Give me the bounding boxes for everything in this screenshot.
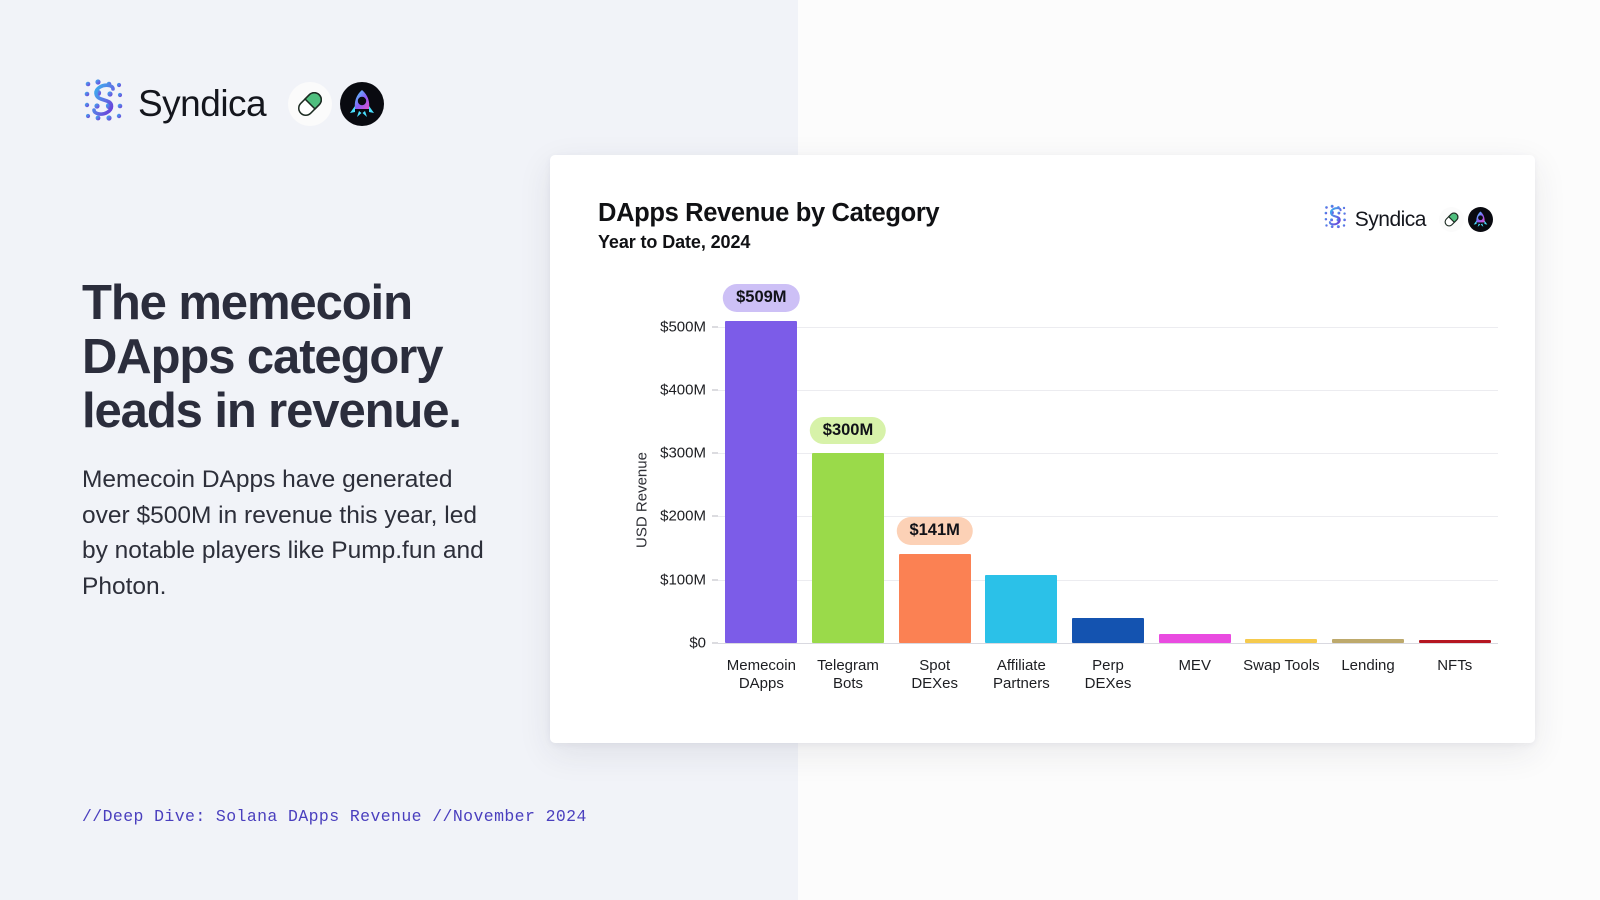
bar-column xyxy=(1325,295,1412,643)
bar[interactable]: $141M xyxy=(899,554,971,643)
y-axis-label: USD Revenue xyxy=(633,452,650,548)
chart-heading-group: DApps Revenue by Category Year to Date, … xyxy=(598,198,939,253)
bar-column xyxy=(1411,295,1498,643)
x-axis-category-label: Lending xyxy=(1325,647,1412,705)
bar-column xyxy=(1151,295,1238,643)
x-axis-labels: Memecoin DAppsTelegram BotsSpot DEXesAff… xyxy=(718,647,1498,705)
x-axis-category-label: Affiliate Partners xyxy=(978,647,1065,705)
bar-series: $509M$300M$141M xyxy=(718,295,1498,643)
pump-fun-pill-icon xyxy=(1439,207,1464,232)
x-axis-category-label: MEV xyxy=(1151,647,1238,705)
chart-card: DApps Revenue by Category Year to Date, … xyxy=(550,155,1535,743)
poster-canvas: Syndica xyxy=(0,0,1600,900)
y-axis-tick-label: $400M xyxy=(660,381,706,398)
x-axis-category-label: Spot DEXes xyxy=(891,647,978,705)
photon-rocket-icon xyxy=(340,82,384,126)
chart-subtitle: Year to Date, 2024 xyxy=(598,232,939,253)
x-axis-category-label: NFTs xyxy=(1411,647,1498,705)
pump-fun-pill-icon xyxy=(288,82,332,126)
x-axis-category-label: Swap Tools xyxy=(1238,647,1325,705)
y-axis-tick-label: $100M xyxy=(660,571,706,588)
y-axis-tick-label: $200M xyxy=(660,508,706,525)
bar[interactable] xyxy=(1332,639,1404,643)
x-axis-category-label: Perp DEXes xyxy=(1065,647,1152,705)
bar[interactable] xyxy=(985,575,1057,643)
syndica-dotted-s-logo-icon xyxy=(1323,204,1348,235)
x-axis-category-label: Telegram Bots xyxy=(805,647,892,705)
bar-column: $509M xyxy=(718,295,805,643)
bar-column: $300M xyxy=(805,295,892,643)
y-axis-tick-label: $500M xyxy=(660,318,706,335)
brand-lockup: Syndica xyxy=(82,78,384,129)
bar[interactable]: $300M xyxy=(812,453,884,643)
bar[interactable] xyxy=(1419,640,1491,643)
footer-caption: //Deep Dive: Solana DApps Revenue //Nove… xyxy=(82,807,587,826)
x-axis-category-label: Memecoin DApps xyxy=(718,647,805,705)
chart-title: DApps Revenue by Category xyxy=(598,198,939,228)
bar-value-badge: $300M xyxy=(810,417,886,445)
brand-name: Syndica xyxy=(138,83,266,125)
chart-header: DApps Revenue by Category Year to Date, … xyxy=(598,198,1493,253)
page-title: The memecoin DApps category leads in rev… xyxy=(82,277,552,439)
y-axis-tick-label: $300M xyxy=(660,445,706,462)
syndica-dotted-s-logo-icon xyxy=(82,78,126,129)
plot-canvas: $500M$400M$300M$200M$100M$0$509M$300M$14… xyxy=(718,295,1498,643)
hero-body-text: Memecoin DApps have generated over $500M… xyxy=(82,462,502,604)
gridline xyxy=(718,643,1498,644)
bar-column xyxy=(1238,295,1325,643)
chart-plot-area: USD Revenue $500M$400M$300M$200M$100M$0$… xyxy=(598,295,1498,705)
bar-value-badge: $141M xyxy=(896,517,972,545)
card-brand-lockup: Syndica xyxy=(1323,204,1493,235)
bar-column xyxy=(1065,295,1152,643)
bar[interactable] xyxy=(1072,618,1144,643)
bar-column: $141M xyxy=(891,295,978,643)
y-axis-tick-label: $0 xyxy=(689,635,706,652)
photon-rocket-icon xyxy=(1468,207,1493,232)
bar[interactable] xyxy=(1159,634,1231,643)
brand-name: Syndica xyxy=(1355,208,1426,232)
bar[interactable] xyxy=(1245,639,1317,643)
bar-column xyxy=(978,295,1065,643)
bar[interactable]: $509M xyxy=(725,321,797,643)
bar-value-badge: $509M xyxy=(723,284,799,312)
